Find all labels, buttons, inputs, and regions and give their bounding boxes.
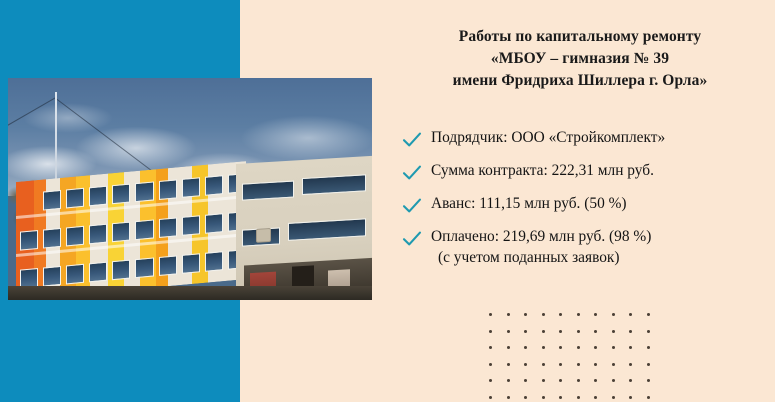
grid-dot (559, 313, 562, 316)
grid-dot (489, 313, 492, 316)
grid-dot (524, 330, 527, 333)
list-item: Подрядчик: ООО «Стройкомплект» (402, 128, 772, 149)
grid-dot (524, 396, 527, 399)
grid-dot (594, 396, 597, 399)
grid-dot (612, 330, 615, 333)
grid-dot (559, 363, 562, 366)
grid-dot (577, 363, 580, 366)
grid-dot (559, 379, 562, 382)
colored-facade (16, 161, 246, 300)
bullet-list: Подрядчик: ООО «Стройкомплект» Сумма кон… (402, 128, 772, 280)
grid-dot (629, 396, 632, 399)
building-right-wing (236, 156, 372, 300)
grid-dot (489, 330, 492, 333)
list-item-text: Подрядчик: ООО «Стройкомплект» (431, 129, 665, 146)
grid-dot (594, 330, 597, 333)
grid-dot (647, 346, 650, 349)
check-icon (402, 197, 422, 215)
grid-dot (542, 313, 545, 316)
title-line-1: Работы по капитальному ремонту (400, 26, 760, 48)
grid-dot (524, 346, 527, 349)
grid-dot (542, 363, 545, 366)
list-item-label: Подрядчик: ООО «Стройкомплект» (431, 128, 665, 149)
grid-dot (507, 346, 510, 349)
grid-dot (594, 346, 597, 349)
list-item-label: Аванс: 111,15 млн руб. (50 %) (431, 194, 627, 215)
grid-dot (612, 346, 615, 349)
list-item-subtext: (с учетом поданных заявок) (431, 248, 651, 269)
grid-dot (629, 379, 632, 382)
list-item: Оплачено: 219,69 млн руб. (98 %) (с учет… (402, 227, 772, 268)
grid-dot (542, 346, 545, 349)
grid-dot (559, 346, 562, 349)
grid-dot (647, 330, 650, 333)
grid-dot (542, 396, 545, 399)
grid-dot (647, 313, 650, 316)
grid-dot (612, 396, 615, 399)
grid-dot (559, 396, 562, 399)
list-item-text: Оплачено: 219,69 млн руб. (98 %) (431, 228, 651, 245)
grid-dot (577, 396, 580, 399)
grid-dot (647, 379, 650, 382)
grid-dot (629, 346, 632, 349)
list-item-text: Аванс: 111,15 млн руб. (50 %) (431, 195, 627, 212)
list-item: Аванс: 111,15 млн руб. (50 %) (402, 194, 772, 215)
grid-dot (559, 330, 562, 333)
list-item: Сумма контракта: 222,31 млн руб. (402, 161, 772, 182)
grid-dot (577, 379, 580, 382)
title-line-3: имени Фридриха Шиллера г. Орла» (400, 70, 760, 92)
decorative-dot-grid (489, 313, 649, 402)
slide-canvas: Работы по капитальному ремонту «МБОУ – г… (0, 0, 775, 402)
grid-dot (647, 363, 650, 366)
check-icon (402, 230, 422, 248)
grid-dot (577, 330, 580, 333)
grid-dot (612, 313, 615, 316)
grid-dot (542, 330, 545, 333)
grid-dot (594, 379, 597, 382)
grid-dot (594, 363, 597, 366)
check-icon (402, 131, 422, 149)
grid-dot (577, 313, 580, 316)
grid-dot (524, 363, 527, 366)
grid-dot (507, 313, 510, 316)
list-item-label: Сумма контракта: 222,31 млн руб. (431, 161, 654, 182)
grid-dot (524, 313, 527, 316)
grid-dot (594, 313, 597, 316)
grid-dot (489, 396, 492, 399)
grid-dot (577, 346, 580, 349)
list-item-label: Оплачено: 219,69 млн руб. (98 %) (с учет… (431, 227, 651, 268)
grid-dot (647, 396, 650, 399)
grid-dot (612, 379, 615, 382)
page-title: Работы по капитальному ремонту «МБОУ – г… (400, 26, 760, 92)
photo-content (8, 78, 372, 300)
grid-dot (507, 330, 510, 333)
school-building-photo (8, 78, 372, 300)
air-conditioner-unit (256, 228, 271, 243)
check-icon (402, 164, 422, 182)
ground-strip (8, 286, 372, 300)
list-item-text: Сумма контракта: 222,31 млн руб. (431, 162, 654, 179)
grid-dot (489, 379, 492, 382)
grid-dot (629, 313, 632, 316)
grid-dot (524, 379, 527, 382)
grid-dot (629, 330, 632, 333)
grid-dot (629, 363, 632, 366)
title-line-2: «МБОУ – гимназия № 39 (400, 48, 760, 70)
grid-dot (507, 396, 510, 399)
grid-dot (542, 379, 545, 382)
grid-dot (612, 363, 615, 366)
grid-dot (507, 363, 510, 366)
grid-dot (489, 363, 492, 366)
grid-dot (507, 379, 510, 382)
grid-dot (489, 346, 492, 349)
